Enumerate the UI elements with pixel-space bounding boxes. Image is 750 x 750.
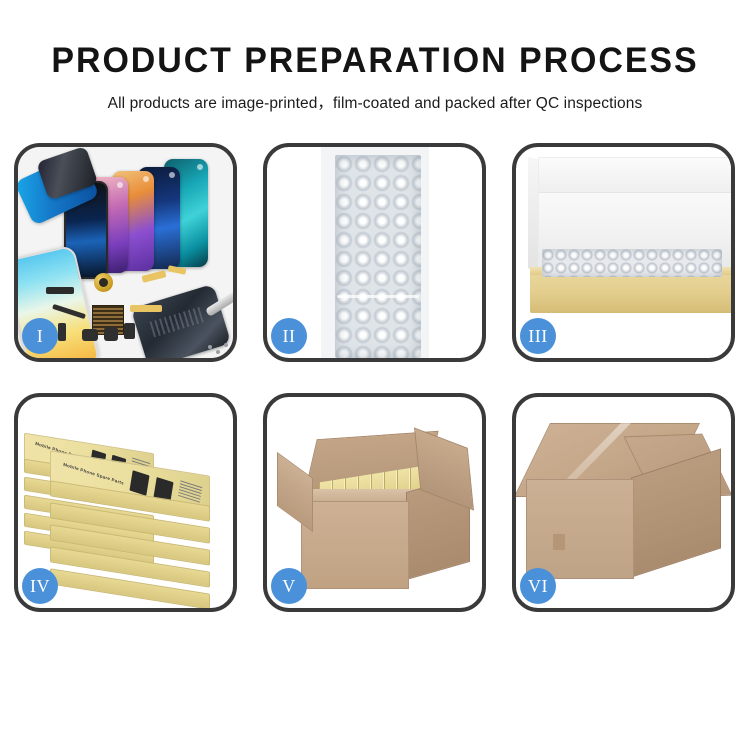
step-badge-3: III xyxy=(520,318,556,354)
process-grid: I II xyxy=(14,143,736,612)
speaker-coin-icon xyxy=(94,273,113,292)
small-part-icon xyxy=(124,323,135,339)
step-badge-5: V xyxy=(271,568,307,604)
screws-icon xyxy=(208,343,233,355)
step-badge-1: I xyxy=(22,318,58,354)
box-stack-group: Mobile Phone Spare Parts Mobile Phon xyxy=(24,419,232,599)
camera-icon xyxy=(197,164,203,170)
step-panel-1[interactable]: I xyxy=(14,143,237,362)
step-panel-6[interactable]: VI xyxy=(512,393,735,612)
header: PRODUCT PREPARATION PROCESS All products… xyxy=(0,0,750,113)
inner-box-group xyxy=(528,155,723,336)
step-panel-4[interactable]: Mobile Phone Spare Parts Mobile Phon xyxy=(14,393,237,612)
page-root: PRODUCT PREPARATION PROCESS All products… xyxy=(0,0,750,750)
small-part-icon xyxy=(104,327,118,341)
process-row-2: Mobile Phone Spare Parts Mobile Phon xyxy=(14,393,736,612)
process-row-1: I II xyxy=(14,143,736,362)
sealed-carton-group xyxy=(526,423,726,593)
step-panel-3[interactable]: III xyxy=(512,143,735,362)
pouch-seam xyxy=(337,295,419,298)
step-badge-4: IV xyxy=(22,568,58,604)
flex-cable-icon xyxy=(130,305,162,312)
bubble-wrap-icon xyxy=(335,155,421,358)
small-part-icon xyxy=(82,329,98,341)
camera-icon xyxy=(117,182,123,188)
carton-front-face xyxy=(301,501,409,589)
kraft-tray-icon xyxy=(530,267,731,313)
small-part-icon xyxy=(58,323,66,341)
box-label-text: Mobile Phone Spare Parts xyxy=(63,462,124,486)
step-panel-2[interactable]: II xyxy=(263,143,486,362)
bubble-wrapped-item-icon xyxy=(542,249,722,277)
box-screen-graphic xyxy=(129,470,149,496)
page-title: PRODUCT PREPARATION PROCESS xyxy=(11,0,739,78)
page-subtitle: All products are image-printed，film-coat… xyxy=(0,78,750,113)
step-badge-6: VI xyxy=(520,568,556,604)
open-carton-group xyxy=(275,417,481,601)
bubble-pouch xyxy=(321,147,429,358)
earpiece-bar-icon xyxy=(46,287,74,294)
carton-tab xyxy=(553,534,565,550)
carton-left-flap xyxy=(277,452,313,532)
camera-icon xyxy=(169,172,175,178)
step-badge-2: II xyxy=(271,318,307,354)
camera-icon xyxy=(143,176,149,182)
carton-front-face xyxy=(526,479,634,579)
step-panel-5[interactable]: V xyxy=(263,393,486,612)
